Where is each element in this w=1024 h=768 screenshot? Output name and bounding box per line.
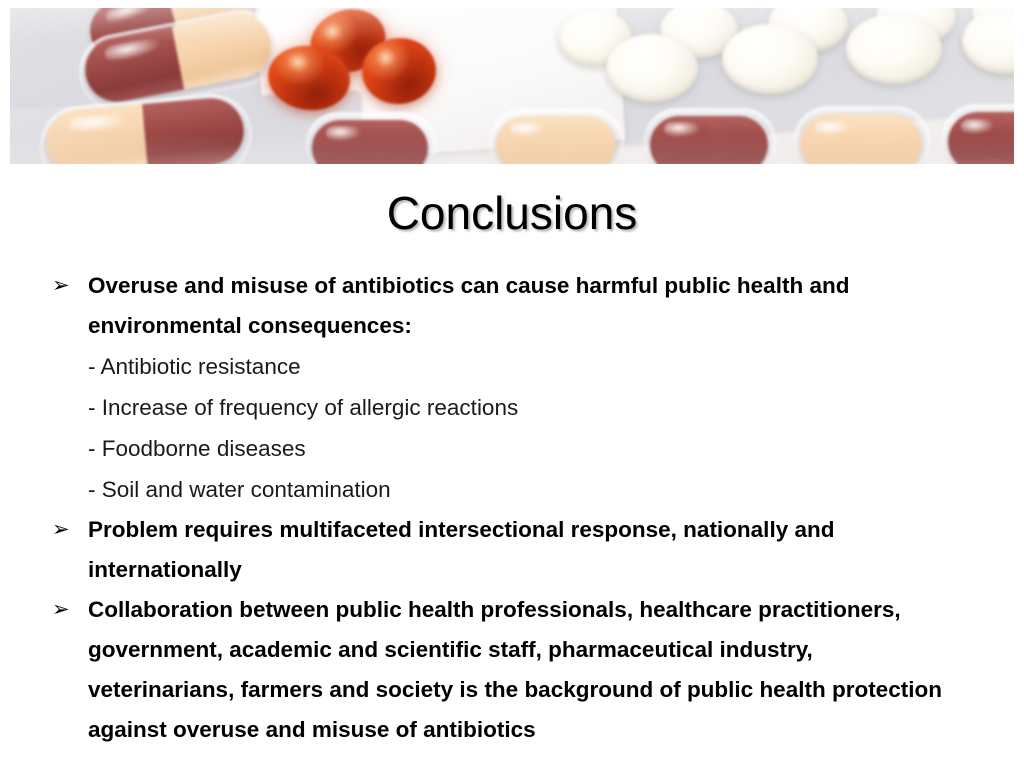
bullet-text: Problem requires multifaceted intersecti… xyxy=(88,510,948,590)
sub-item: - Foodborne diseases xyxy=(88,428,950,469)
capsule-half-maroon xyxy=(1003,112,1014,164)
capsule-half-cream xyxy=(861,114,922,164)
slide-body: ➢ Overuse and misuse of antibiotics can … xyxy=(50,266,950,750)
capsule-highlight xyxy=(961,119,994,135)
sub-item: - Antibiotic resistance xyxy=(88,346,950,387)
white-tablet xyxy=(722,24,818,94)
capsule-pill xyxy=(312,120,428,164)
sub-item: - Soil and water contamination xyxy=(88,469,950,510)
capsule-highlight xyxy=(815,121,852,137)
white-tablet xyxy=(606,34,698,102)
bullet-text: Collaboration between public health prof… xyxy=(88,590,948,750)
capsule-half-cream xyxy=(556,116,616,164)
capsule-pill xyxy=(800,114,922,164)
capsule-pill xyxy=(650,116,768,164)
capsule-highlight xyxy=(510,122,546,137)
capsule-highlight xyxy=(664,122,699,137)
capsule-half-maroon xyxy=(709,116,768,164)
bullet-item: ➢ Problem requires multifaceted intersec… xyxy=(50,510,950,590)
arrowhead-bullet-icon: ➢ xyxy=(50,510,88,550)
white-tablet xyxy=(846,14,942,84)
bullet-item: ➢ Overuse and misuse of antibiotics can … xyxy=(50,266,950,346)
arrowhead-bullet-icon: ➢ xyxy=(50,590,88,630)
slide-title: Conclusions xyxy=(0,185,1024,241)
arrowhead-bullet-icon: ➢ xyxy=(50,266,88,306)
header-image xyxy=(10,8,1014,164)
capsule-pill xyxy=(496,116,616,164)
presentation-slide: Conclusions ➢ Overuse and misuse of anti… xyxy=(0,0,1024,768)
capsule-half-maroon xyxy=(142,95,246,164)
bullet-item: ➢ Collaboration between public health pr… xyxy=(50,590,950,750)
sub-item-list: - Antibiotic resistance - Increase of fr… xyxy=(50,346,950,510)
capsule-pill xyxy=(948,112,1014,164)
capsule-highlight xyxy=(326,126,361,141)
sub-item: - Increase of frequency of allergic reac… xyxy=(88,387,950,428)
bullet-text: Overuse and misuse of antibiotics can ca… xyxy=(88,266,948,346)
pills-photo xyxy=(10,8,1014,164)
